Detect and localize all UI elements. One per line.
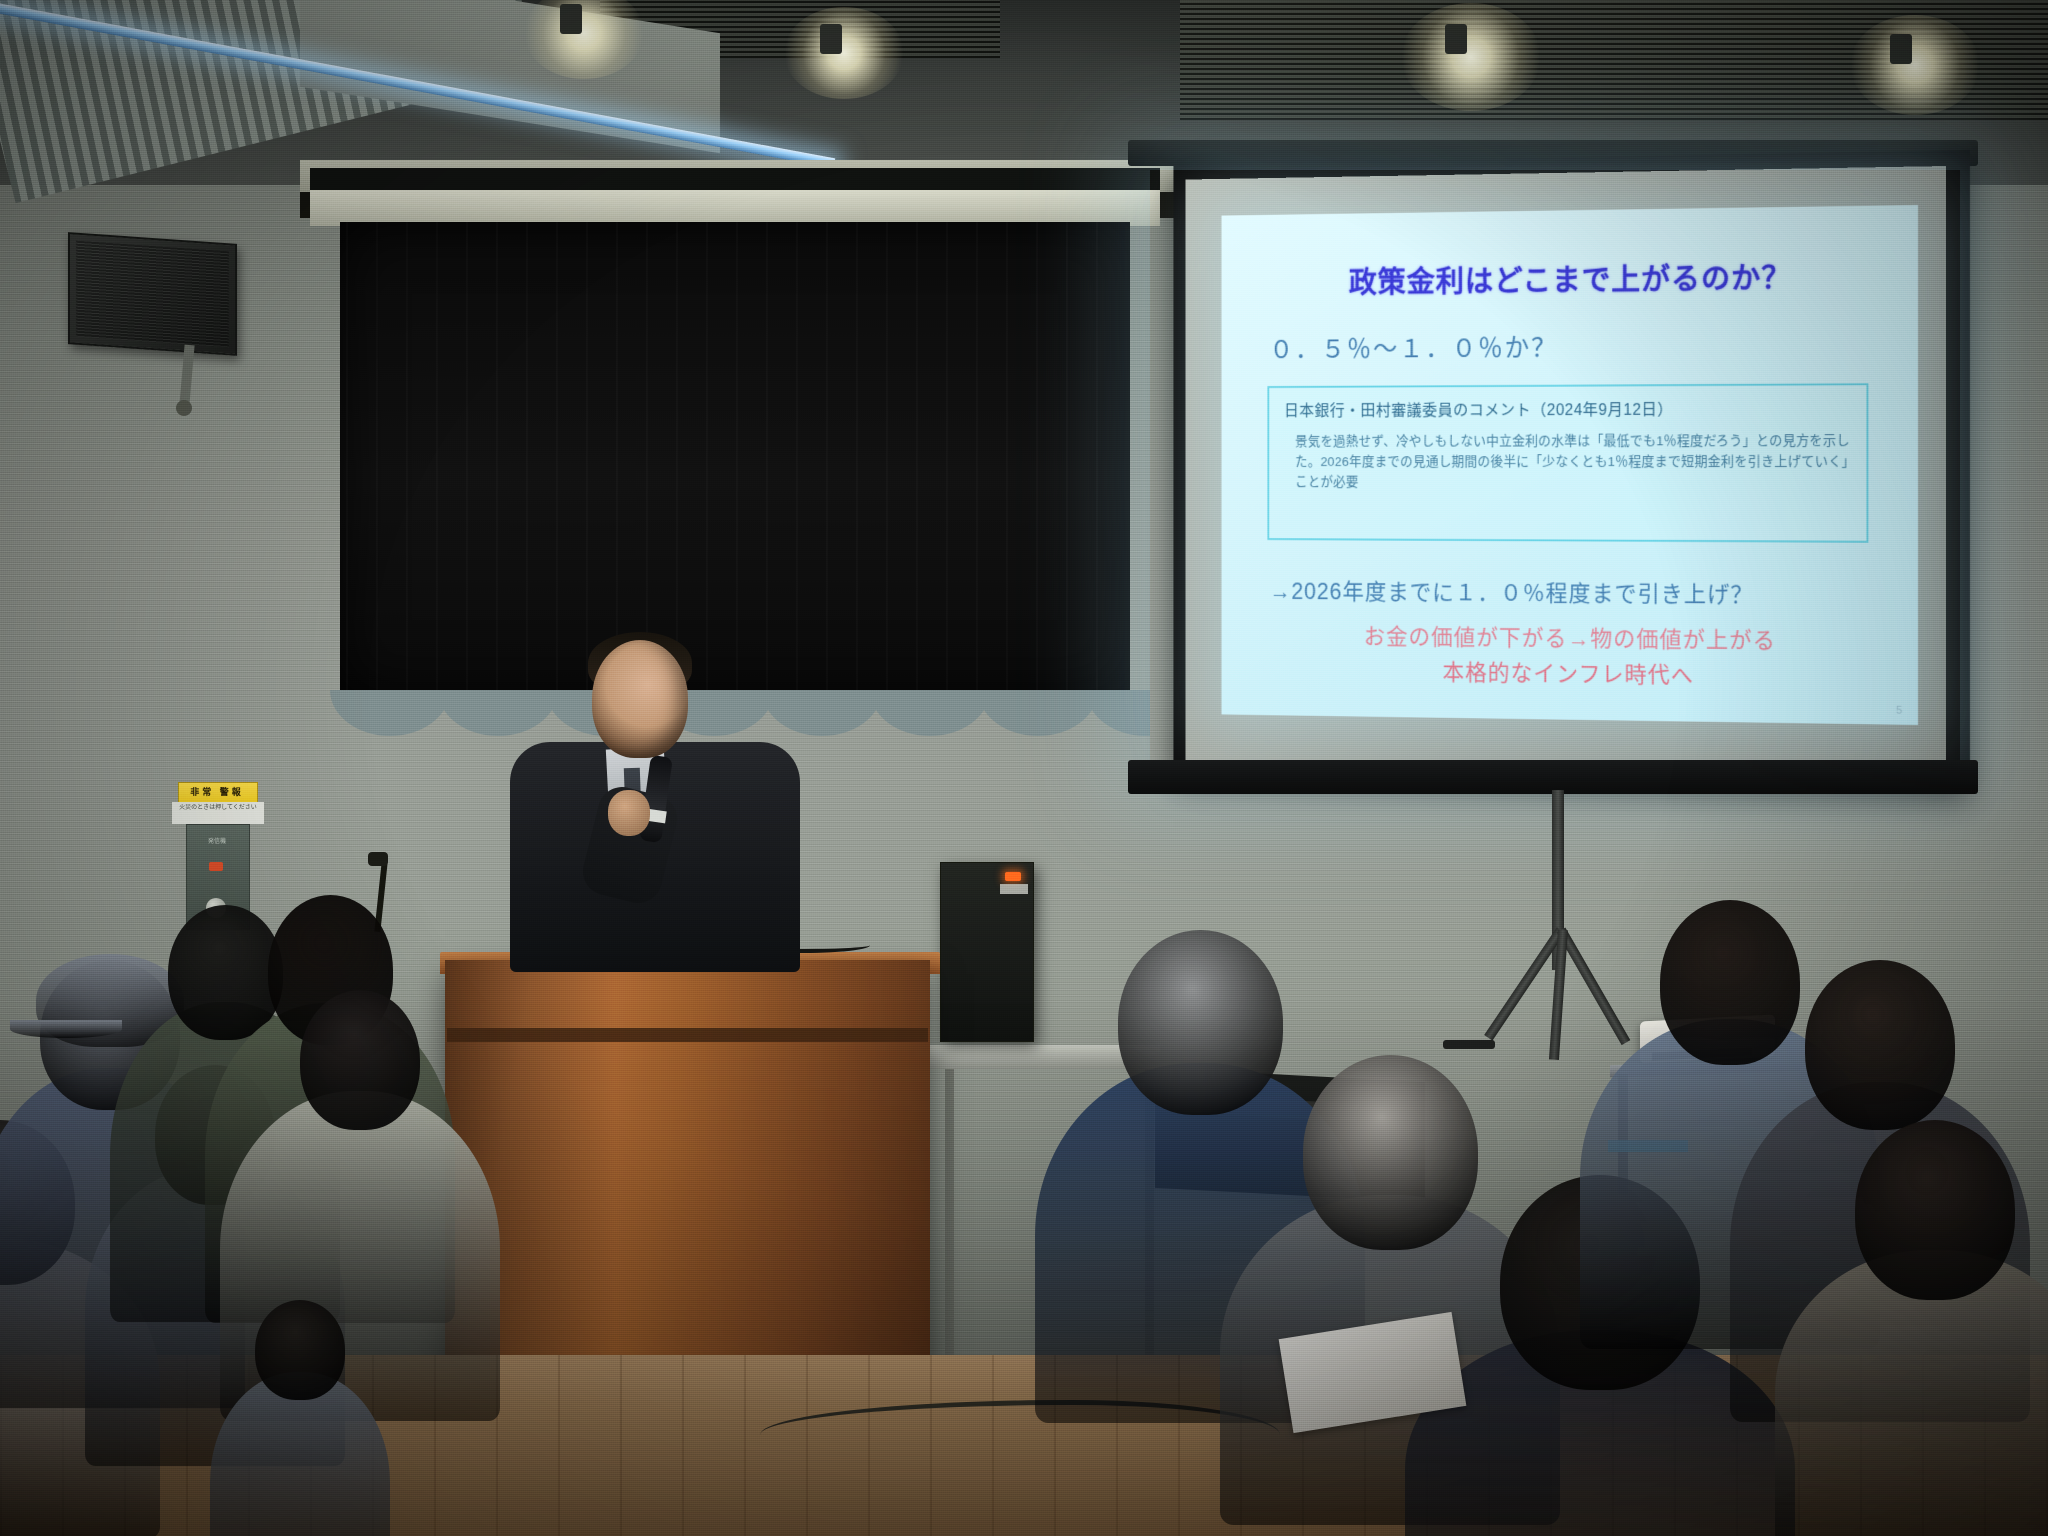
curtain-fold (736, 222, 738, 692)
floor-plank (806, 1355, 808, 1536)
comment-box: 日本銀行・田村審議委員のコメント（2024年9月12日） 景気を過熱せず、冷やし… (1267, 383, 1868, 543)
comment-box-body: 景気を過熱せず、冷やしもしない中立金利の水準は「最低でも1％程度だろう」との見方… (1295, 431, 1855, 494)
curtain-rail-shadow (310, 168, 1160, 192)
slide-subtitle: ０．５％～１．０％か？ (1269, 328, 1558, 366)
floor-plank (868, 1355, 870, 1536)
tripod-foot-left (1443, 1040, 1495, 1049)
curtain-fold (766, 222, 768, 692)
valance-scallop (438, 690, 558, 736)
curtain-fold (1006, 222, 1008, 692)
floor-plank (992, 1355, 994, 1536)
ceiling-spot-mid (820, 24, 842, 54)
curtain-fold (556, 222, 558, 692)
speaker-badge (1000, 884, 1028, 894)
slide-red-line-1: お金の価値が下がる→物の価値が上がる (1258, 617, 1888, 657)
emergency-sign-sublabel: 火災のときは押してください (174, 804, 262, 813)
comment-box-header: 日本銀行・田村審議委員のコメント（2024年9月12日） (1284, 396, 1673, 421)
curtain-fold (406, 222, 408, 692)
curtain-fold (466, 222, 468, 692)
audience-cap-gray-cap-brim (10, 1020, 122, 1038)
curtain-fold (1096, 222, 1098, 692)
curtain-fold (496, 222, 498, 692)
presenter-hand (608, 790, 650, 836)
floor-plank (620, 1355, 622, 1536)
ceiling-spot-left (560, 4, 582, 34)
ceiling-lamp-right-glow (1401, 3, 1541, 111)
valance-scallop (762, 690, 882, 736)
slide-conclusion-line: →2026年度までに１．０％程度まで引き上げ？ (1269, 573, 1753, 610)
lecture-hall-scene: 非常 警報 火災のときは押してください 発信機 政策金利はどこまで上がるのか？ … (0, 0, 2048, 1536)
audience-far-right-head (1805, 960, 1955, 1130)
valance-scallop (1086, 690, 1150, 736)
slide-title: 政策金利はどこまで上がるのか？ (1258, 251, 1888, 301)
valance-scallop (330, 690, 450, 736)
microphone-stand-head (368, 852, 388, 866)
curtain-fold (646, 222, 648, 692)
floor-plank (930, 1355, 932, 1536)
audience-right-edge (1775, 1120, 2048, 1536)
curtain-fold (856, 222, 858, 692)
curtain-fold (706, 222, 708, 692)
curtain-fold (1066, 222, 1068, 692)
projected-slide: 政策金利はどこまで上がるのか？ ０．５％～１．０％か？ 日本銀行・田村審議委員の… (1222, 205, 1918, 725)
fire-alarm-label: 発信機 (188, 836, 246, 845)
ceiling-lamp-far-glow (1850, 15, 1980, 115)
valance-scallop (870, 690, 990, 736)
ceiling-lamp-right (1445, 24, 1467, 54)
audience-back-row-left-head (255, 1300, 345, 1400)
wall-speaker (68, 232, 237, 356)
presenter-head (592, 640, 688, 758)
curtain-fold (826, 222, 828, 692)
side-table-leg-left (945, 1069, 954, 1369)
curtain-fold (586, 222, 588, 692)
audience-checked-coat-head (300, 990, 420, 1130)
speaker-mount-knob (176, 400, 192, 416)
curtain-fold (946, 222, 948, 692)
curtain-fold (676, 222, 678, 692)
speaker-grill (76, 241, 229, 348)
slide-red-line-2: 本格的なインフレ時代へ (1258, 652, 1888, 693)
curtain-fold (616, 222, 618, 692)
screen-bottom-bar (1128, 760, 1978, 794)
ceiling-lamp-far (1890, 34, 1912, 64)
curtain-fold (886, 222, 888, 692)
curtain-fold (1036, 222, 1038, 692)
audience-right-edge-head (1855, 1120, 2015, 1300)
emergency-sign-label: 非常 警報 (180, 784, 254, 800)
stage-curtain (340, 222, 1130, 692)
floor-plank (682, 1355, 684, 1536)
audience-back-row-left (210, 1300, 390, 1536)
floor-plank (558, 1355, 560, 1536)
power-led-icon (1005, 872, 1021, 881)
curtain-fold (526, 222, 528, 692)
slide-page-number: 5 (1896, 705, 1902, 717)
curtain-fold (376, 222, 378, 692)
podium-trim-upper (447, 1028, 928, 1042)
valance-scallop (978, 690, 1098, 736)
alarm-lamp-icon (209, 862, 223, 871)
curtain-fold (346, 222, 348, 692)
floor-plank (744, 1355, 746, 1536)
curtain-fold (976, 222, 978, 692)
curtain-fold (916, 222, 918, 692)
ceiling-spot-mid-glow (784, 7, 904, 99)
curtain-fold (796, 222, 798, 692)
curtain-pelmet (310, 190, 1160, 226)
curtain-fold (436, 222, 438, 692)
